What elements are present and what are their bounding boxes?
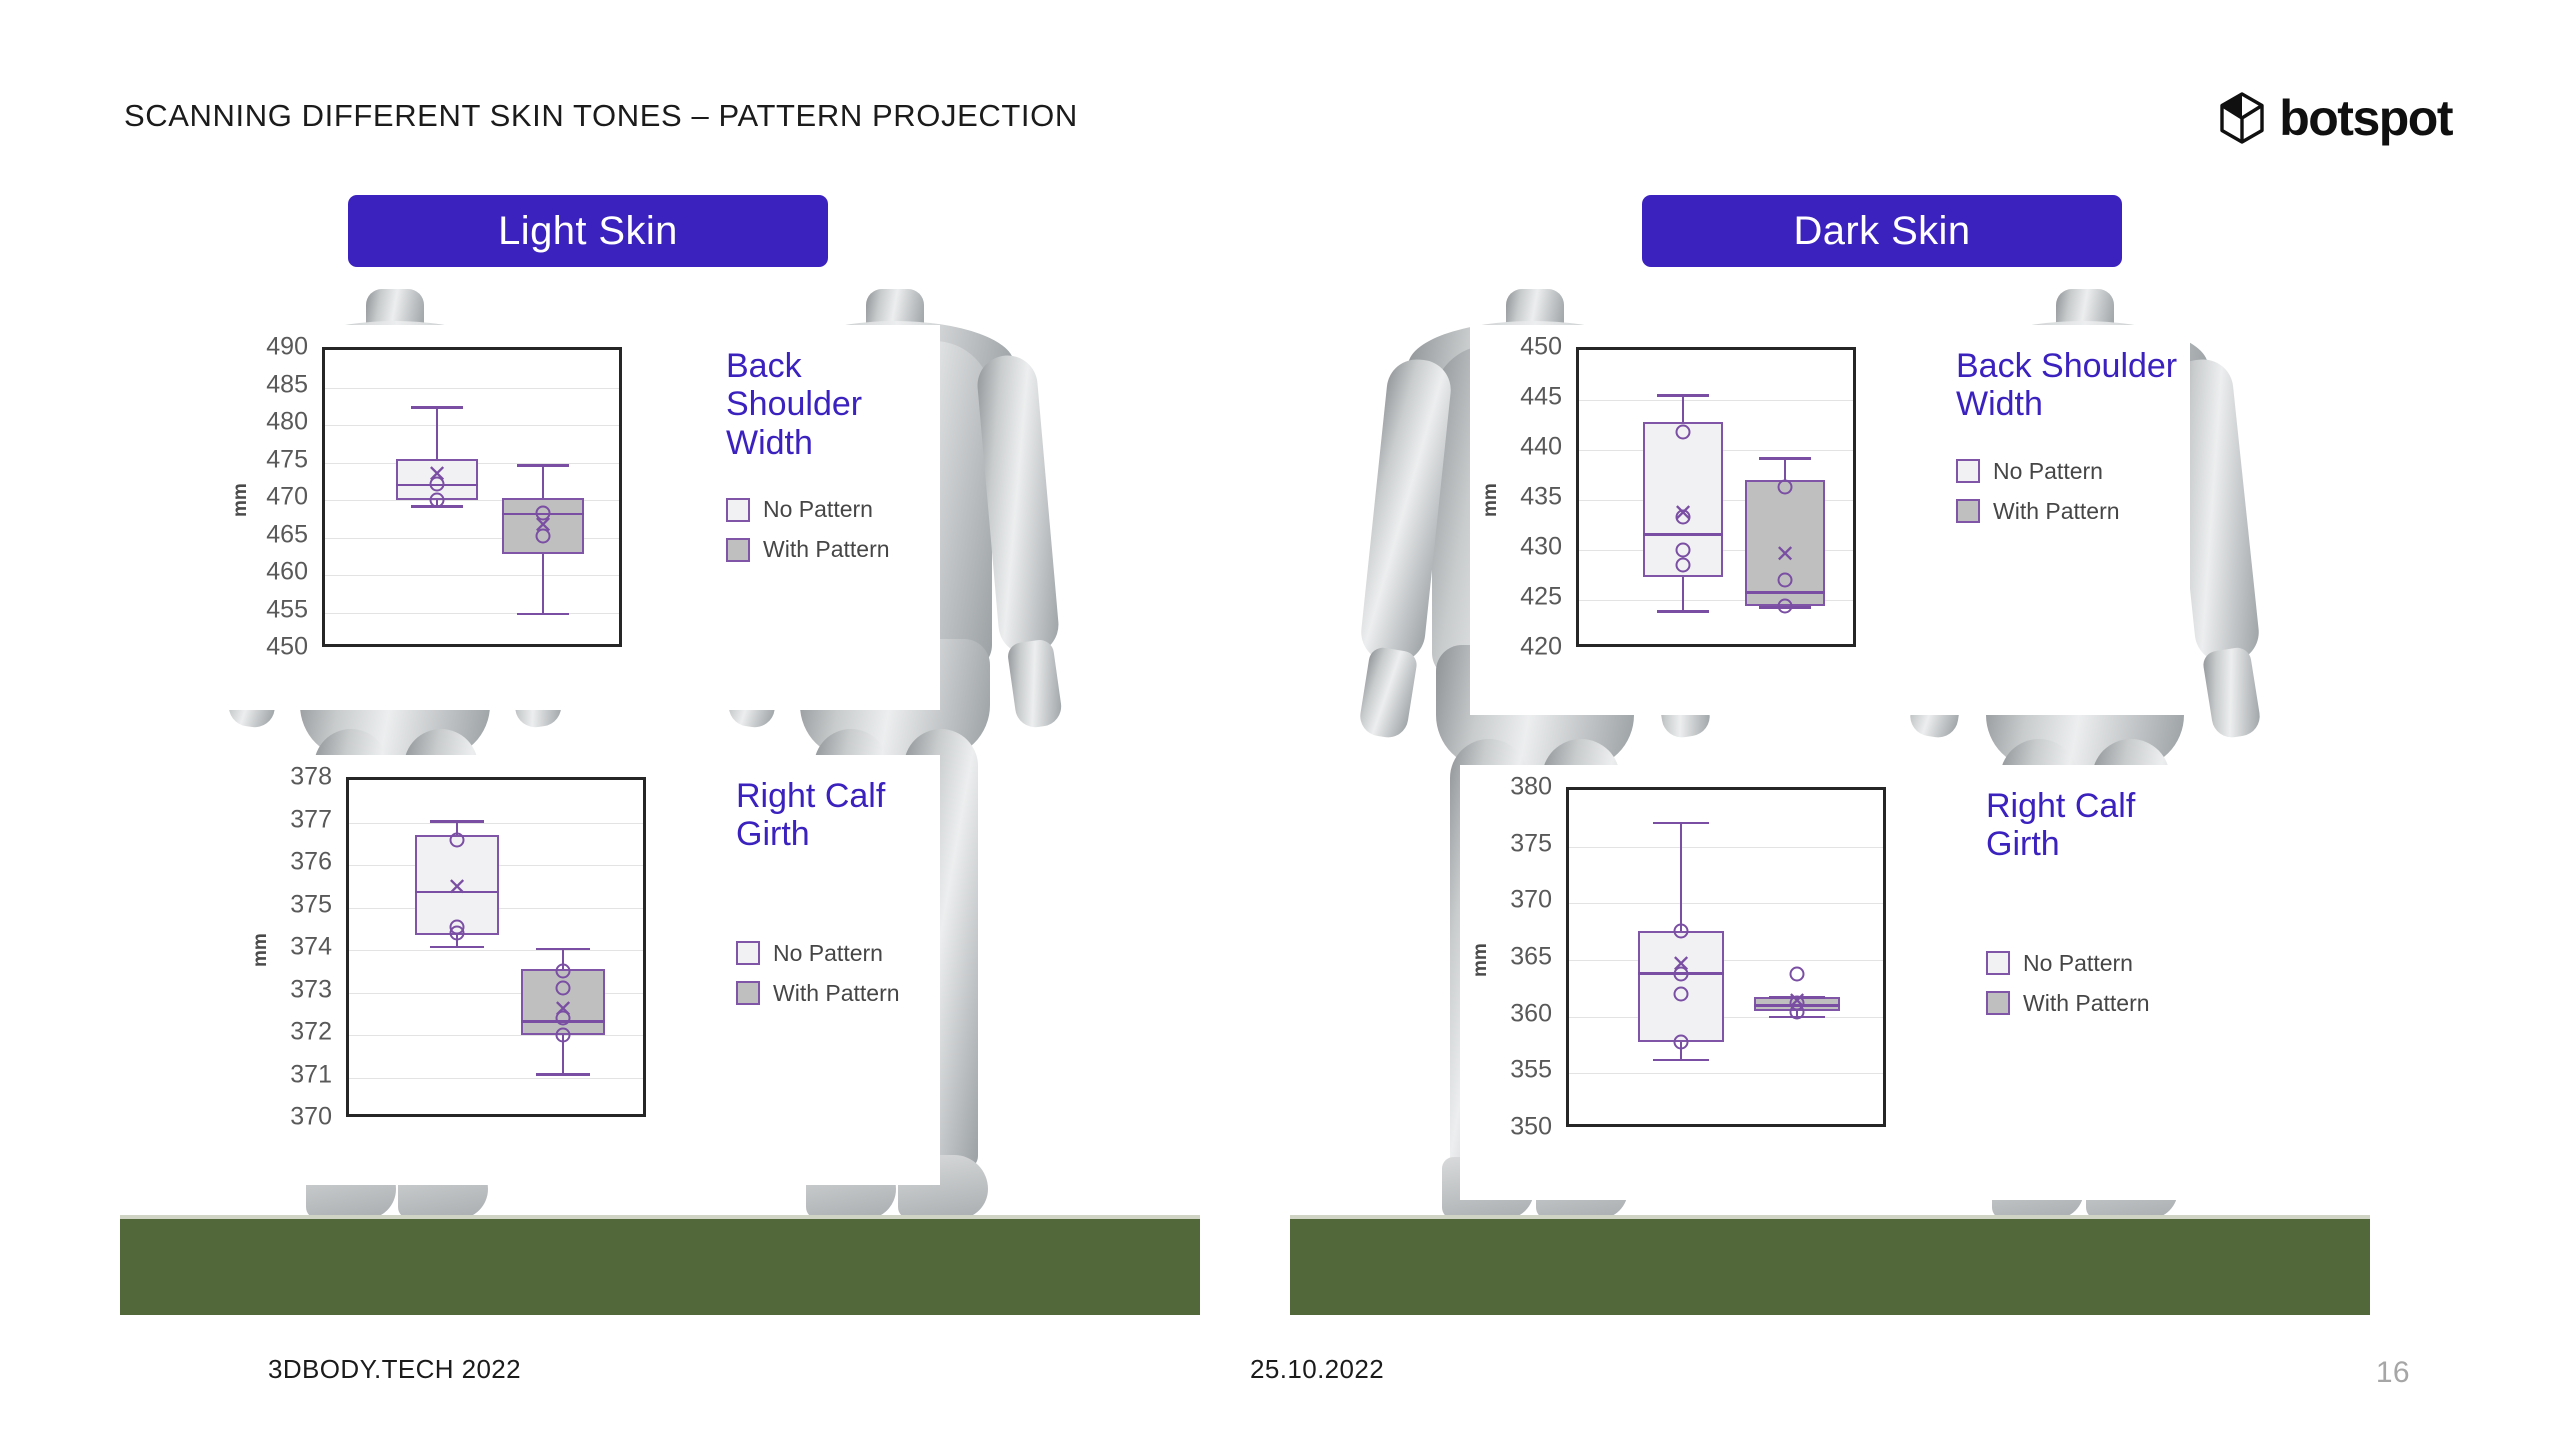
y-axis-tick: 370 — [1460, 886, 1552, 915]
whisker-cap — [430, 946, 484, 949]
y-axis-tick: 365 — [1460, 943, 1552, 972]
whisker-cap — [1657, 394, 1708, 397]
data-point — [1674, 987, 1689, 1002]
legend-item-with-pattern: With Pattern — [1956, 498, 2190, 525]
logo-wordmark: botspot — [2279, 93, 2452, 143]
y-axis-tick: 371 — [240, 1060, 332, 1089]
chart-card-light-back-shoulder-width: mm✕✕450455460465470475480485490 Back Sho… — [220, 325, 940, 710]
botspot-logo: botspot — [2219, 92, 2452, 144]
whisker — [542, 554, 545, 613]
gridline — [325, 613, 619, 614]
chart-title: Right Calf Girth — [1986, 787, 2200, 864]
legend-label-with-pattern: With Pattern — [773, 980, 900, 1007]
legend-item-no-pattern: No Pattern — [1986, 950, 2200, 977]
gridline — [1569, 1073, 1883, 1074]
gridline — [1569, 903, 1883, 904]
data-point — [1676, 558, 1691, 573]
legend-label-with-pattern: With Pattern — [1993, 498, 2120, 525]
legend-label-no-pattern: No Pattern — [1993, 458, 2103, 485]
whisker — [436, 406, 439, 459]
banner-light-skin: Light Skin — [348, 195, 828, 267]
whisker-cap — [411, 406, 463, 409]
y-axis-tick: 490 — [220, 333, 308, 362]
gridline — [1569, 960, 1883, 961]
panel-light-skin: Light Skin — [120, 285, 1200, 1315]
data-point — [1674, 1034, 1689, 1049]
y-axis-tick: 380 — [1460, 773, 1552, 802]
legend-swatch-no-pattern — [1986, 951, 2010, 975]
gridline — [325, 388, 619, 389]
gridline — [349, 1078, 643, 1079]
chart-title: Back Shoulder Width — [726, 347, 940, 462]
chart-title: Back Shoulder Width — [1956, 347, 2190, 424]
legend-item-no-pattern: No Pattern — [726, 496, 940, 523]
legend-swatch-with-pattern — [726, 538, 750, 562]
y-axis-tick: 373 — [240, 975, 332, 1004]
footer-left: 3DBODY.TECH 2022 — [268, 1354, 521, 1385]
data-point — [556, 981, 571, 996]
legend-swatch-with-pattern — [1956, 499, 1980, 523]
y-axis-tick: 420 — [1470, 633, 1562, 662]
median-line — [1745, 591, 1825, 594]
data-point — [1778, 573, 1793, 588]
legend-item-no-pattern: No Pattern — [736, 940, 940, 967]
data-point — [1778, 599, 1793, 614]
gridline — [325, 575, 619, 576]
legend-item-with-pattern: With Pattern — [726, 536, 940, 563]
ground-plane — [120, 1219, 1200, 1315]
legend-item-no-pattern: No Pattern — [1956, 458, 2190, 485]
whisker-cap — [1653, 1059, 1708, 1062]
chart-legend: No Pattern With Pattern — [1956, 458, 2190, 525]
mean-marker: ✕ — [426, 464, 448, 486]
y-axis-tick: 378 — [240, 763, 332, 792]
y-axis-tick: 355 — [1460, 1056, 1552, 1085]
mean-marker: ✕ — [532, 515, 554, 537]
chart-legend: No Pattern With Pattern — [726, 496, 940, 563]
mean-marker: ✕ — [552, 999, 574, 1021]
legend-label-no-pattern: No Pattern — [2023, 950, 2133, 977]
mean-marker: ✕ — [1670, 954, 1692, 976]
data-point — [556, 1028, 571, 1043]
y-axis-tick: 435 — [1470, 483, 1562, 512]
footer-middle: 25.10.2022 — [1250, 1354, 1384, 1385]
legend-label-with-pattern: With Pattern — [2023, 990, 2150, 1017]
mean-marker: ✕ — [446, 877, 468, 899]
chart-card-dark-back-shoulder-width: mm✕✕420425430435440445450 Back Shoulder … — [1470, 325, 2190, 715]
boxplot-light-back-shoulder-width: mm✕✕450455460465470475480485490 — [220, 325, 700, 670]
y-axis-tick: 374 — [240, 933, 332, 962]
y-axis-tick: 377 — [240, 805, 332, 834]
data-point — [1778, 480, 1793, 495]
legend-swatch-with-pattern — [1986, 991, 2010, 1015]
legend-swatch-no-pattern — [736, 941, 760, 965]
data-point — [430, 493, 445, 508]
whisker-cap — [430, 820, 484, 823]
whisker-cap — [517, 613, 569, 616]
gridline — [1569, 1017, 1883, 1018]
mean-marker: ✕ — [1774, 544, 1796, 566]
legend-swatch-with-pattern — [736, 981, 760, 1005]
y-axis-tick: 376 — [240, 848, 332, 877]
banner-dark-skin: Dark Skin — [1642, 195, 2122, 267]
y-axis-tick: 450 — [220, 633, 308, 662]
data-point — [556, 964, 571, 979]
y-axis-tick: 455 — [220, 595, 308, 624]
median-line — [1643, 533, 1723, 536]
plot-area: ✕✕ — [1576, 347, 1856, 647]
whisker — [1784, 457, 1787, 480]
y-axis-tick: 375 — [1460, 829, 1552, 858]
whisker-cap — [1657, 610, 1708, 613]
data-point — [1790, 966, 1805, 981]
boxplot-dark-right-calf-girth: mm✕✕350355360365370375380 — [1460, 765, 1960, 1165]
legend-swatch-no-pattern — [1956, 459, 1980, 483]
gridline — [1569, 847, 1883, 848]
y-axis-tick: 460 — [220, 558, 308, 587]
gridline — [349, 1035, 643, 1036]
y-axis-tick: 372 — [240, 1018, 332, 1047]
data-point — [450, 926, 465, 941]
whisker — [1680, 822, 1683, 931]
y-axis-tick: 450 — [1470, 333, 1562, 362]
chart-card-light-right-calf-girth: mm✕✕370371372373374375376377378 Right Ca… — [240, 755, 940, 1185]
whisker-cap — [536, 1073, 590, 1076]
y-axis-tick: 430 — [1470, 533, 1562, 562]
gridline — [349, 950, 643, 951]
y-axis-tick: 350 — [1460, 1113, 1552, 1142]
whisker-cap — [1759, 457, 1810, 460]
y-axis-tick: 425 — [1470, 583, 1562, 612]
gridline — [325, 425, 619, 426]
y-axis-tick: 475 — [220, 445, 308, 474]
data-point — [1674, 923, 1689, 938]
y-axis-tick: 480 — [220, 408, 308, 437]
legend-swatch-no-pattern — [726, 498, 750, 522]
page-number: 16 — [2376, 1356, 2410, 1390]
ground-plane — [1290, 1219, 2370, 1315]
gridline — [1579, 400, 1853, 401]
data-point — [1676, 543, 1691, 558]
y-axis-tick: 360 — [1460, 999, 1552, 1028]
y-axis-tick: 445 — [1470, 383, 1562, 412]
data-point — [1676, 425, 1691, 440]
whisker-cap — [517, 464, 569, 467]
gridline — [349, 823, 643, 824]
whisker — [1682, 577, 1685, 610]
chart-card-dark-right-calf-girth: mm✕✕350355360365370375380 Right Calf Gir… — [1460, 765, 2200, 1200]
chart-legend: No Pattern With Pattern — [1986, 950, 2200, 1017]
panel-dark-skin: Dark Skin — [1290, 285, 2370, 1315]
whisker — [542, 464, 545, 498]
plot-area: ✕✕ — [346, 777, 646, 1117]
mean-marker: ✕ — [1786, 991, 1808, 1013]
legend-label-with-pattern: With Pattern — [763, 536, 890, 563]
legend-label-no-pattern: No Pattern — [763, 496, 873, 523]
legend-item-with-pattern: With Pattern — [1986, 990, 2200, 1017]
plot-area: ✕✕ — [322, 347, 622, 647]
botspot-cube-icon — [2219, 92, 2265, 144]
mean-marker: ✕ — [1672, 503, 1694, 525]
whisker-cap — [1653, 822, 1708, 825]
y-axis-tick: 370 — [240, 1103, 332, 1132]
y-axis-tick: 470 — [220, 483, 308, 512]
boxplot-light-right-calf-girth: mm✕✕370371372373374375376377378 — [240, 755, 710, 1155]
y-axis-tick: 485 — [220, 370, 308, 399]
y-axis-tick: 375 — [240, 890, 332, 919]
chart-title: Right Calf Girth — [736, 777, 940, 854]
legend-label-no-pattern: No Pattern — [773, 940, 883, 967]
whisker-cap — [536, 948, 590, 951]
chart-legend: No Pattern With Pattern — [736, 940, 940, 1007]
y-axis-tick: 465 — [220, 520, 308, 549]
data-point — [450, 832, 465, 847]
y-axis-tick: 440 — [1470, 433, 1562, 462]
legend-item-with-pattern: With Pattern — [736, 980, 940, 1007]
plot-area: ✕✕ — [1566, 787, 1886, 1127]
whisker — [1682, 394, 1685, 422]
page-title: SCANNING DIFFERENT SKIN TONES – PATTERN … — [124, 98, 1078, 134]
boxplot-dark-back-shoulder-width: mm✕✕420425430435440445450 — [1470, 325, 1930, 675]
